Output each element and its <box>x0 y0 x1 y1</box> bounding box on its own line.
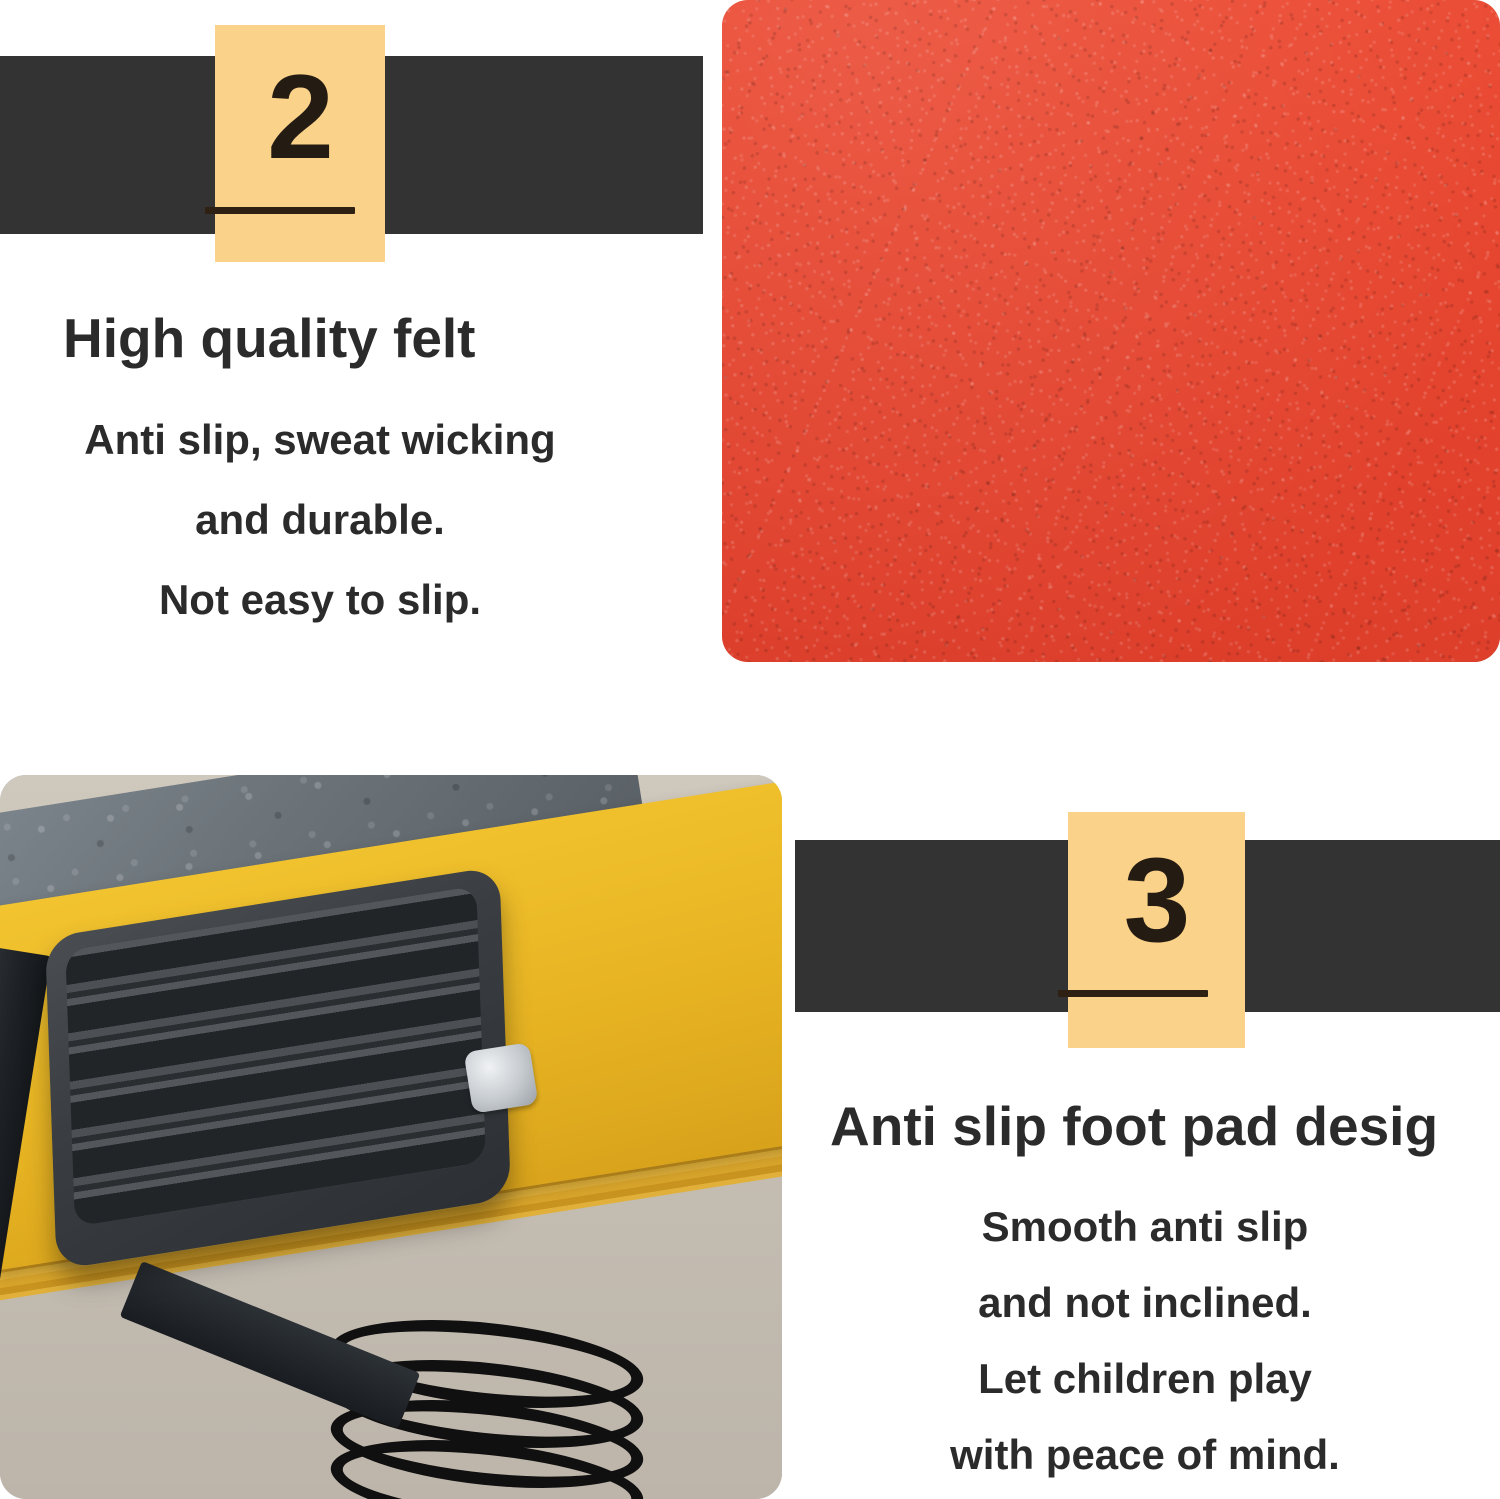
panel-2-body-line-3: Not easy to slip. <box>0 578 640 622</box>
foot-pad-closeup-photo <box>0 775 782 1499</box>
panel-3-number-underline <box>1058 990 1208 997</box>
photo-red-felt-surface <box>722 0 1500 662</box>
photo-foot-pad-ribs <box>65 886 486 1227</box>
panel-3-body-line-3: Let children play <box>800 1357 1490 1401</box>
panel-3-body-line-2: and not inclined. <box>800 1281 1490 1325</box>
photo-metal-bolt <box>464 1042 539 1114</box>
panel-2-number-underline <box>205 207 355 214</box>
felt-closeup-photo <box>722 0 1500 662</box>
panel-2-number-badge: 2 <box>215 25 385 262</box>
panel-2-body-line-2: and durable. <box>0 498 640 542</box>
panel-3-title: Anti slip foot pad desig <box>830 1098 1438 1156</box>
panel-3-body-line-1: Smooth anti slip <box>800 1205 1490 1249</box>
panel-2-title: High quality felt <box>63 310 476 368</box>
panel-3-number-badge: 3 <box>1068 812 1245 1048</box>
panel-2-body-line-1: Anti slip, sweat wicking <box>0 418 640 462</box>
panel-3-number: 3 <box>1124 840 1190 960</box>
panel-2-number: 2 <box>267 57 333 177</box>
panel-3-body-line-4: with peace of mind. <box>800 1433 1490 1477</box>
infographic-canvas: 2 High quality felt Anti slip, sweat wic… <box>0 0 1500 1499</box>
